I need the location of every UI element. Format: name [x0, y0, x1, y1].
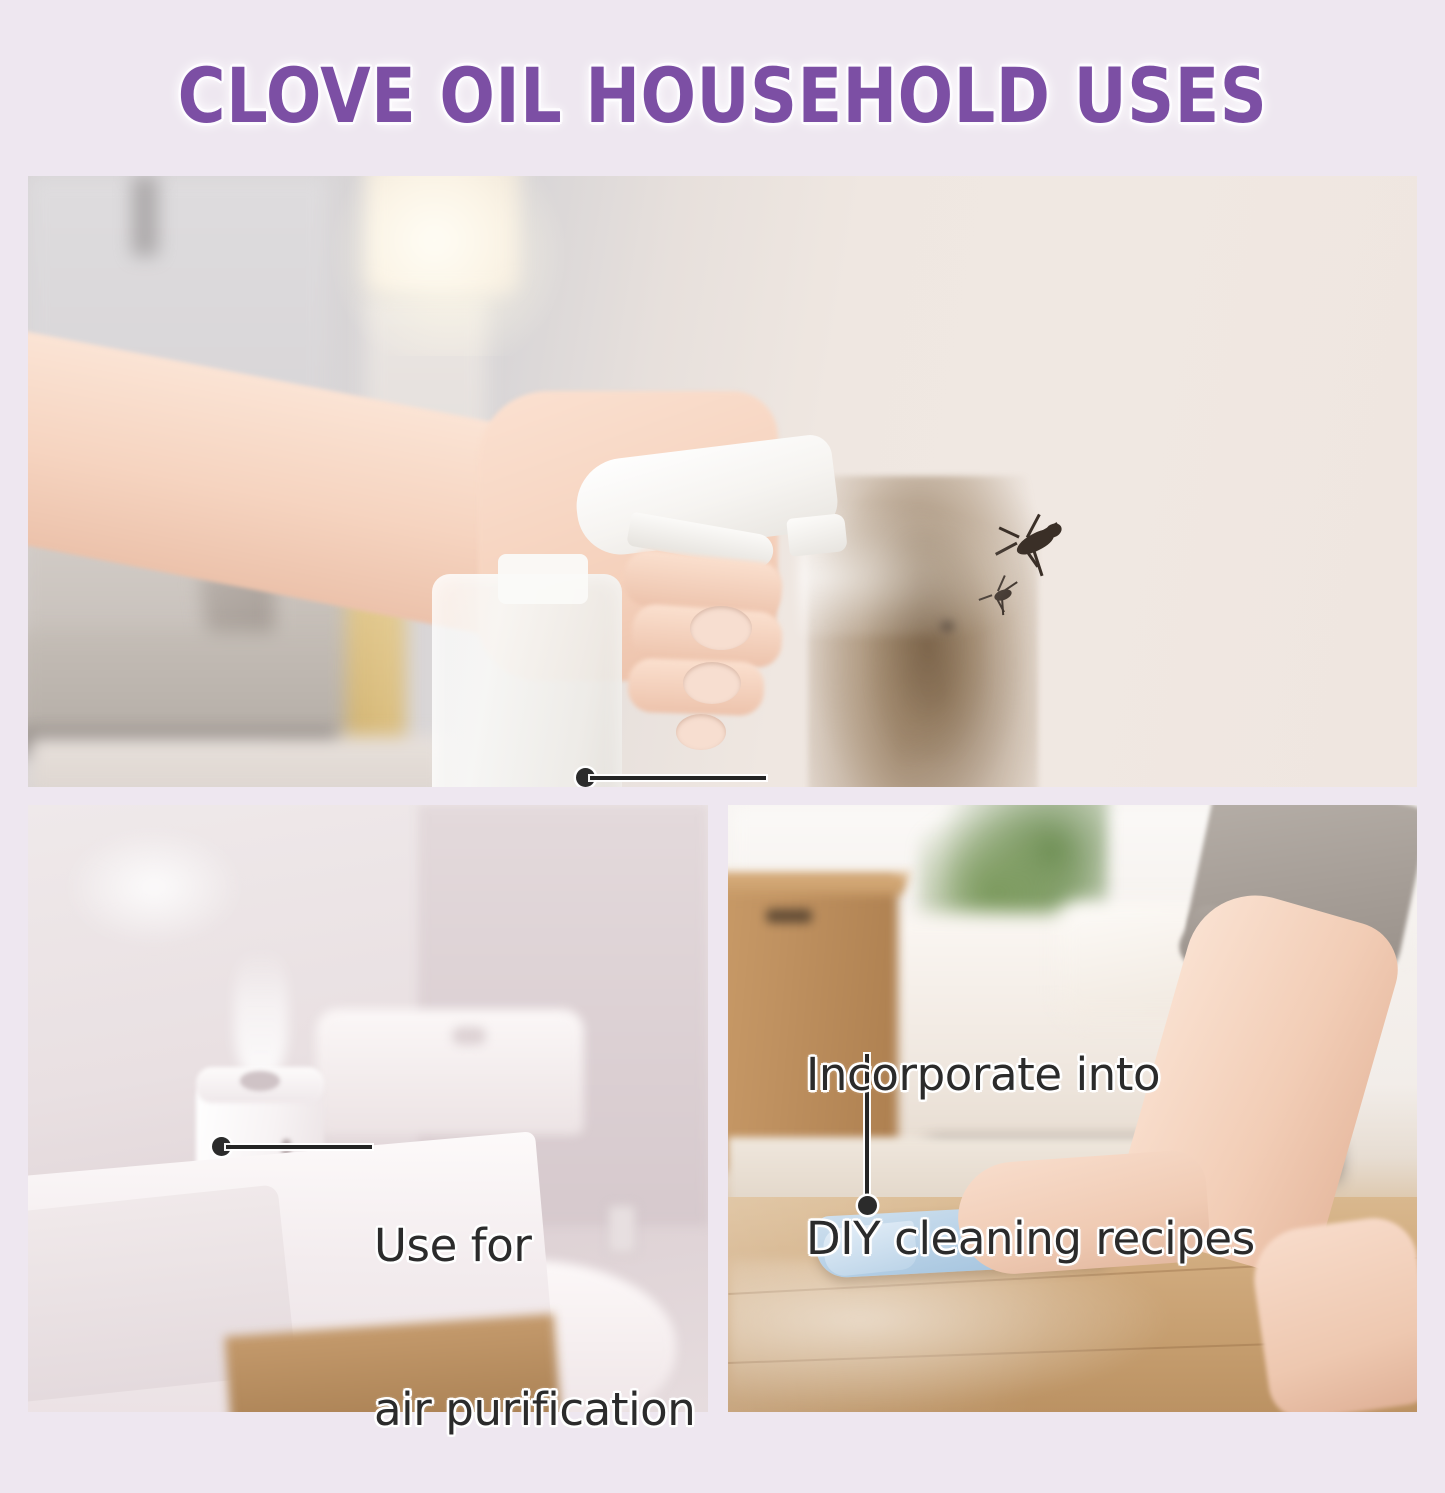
spray-bottle-neck — [498, 554, 588, 604]
air-callout-text: Use for air purification — [374, 1109, 695, 1493]
fingernail-2 — [683, 662, 741, 704]
diy-callout-line1: Incorporate into — [806, 1048, 1255, 1103]
leader-line — [590, 776, 766, 780]
mist-cloud — [64, 827, 244, 947]
leader-line — [226, 1145, 372, 1149]
floor — [28, 736, 448, 787]
background-door-shadow — [132, 176, 158, 256]
cabinet-top-surface — [728, 873, 909, 895]
mist-column — [234, 947, 288, 1079]
spray-callout-leader — [576, 768, 766, 787]
fingernail-1 — [690, 606, 752, 650]
spray-bottle-photo — [28, 176, 1417, 787]
cabinet-handle — [766, 909, 812, 923]
page-title: CLOVE OIL HOUSEHOLD USES — [178, 58, 1268, 134]
fingernail-3 — [676, 714, 726, 750]
spray-bottle-body — [432, 574, 622, 787]
supporting-hand — [1248, 1212, 1417, 1412]
spray-bottle-panel: Add to spray bottles for aromatic freshe… — [28, 176, 1417, 787]
sofa-seat — [28, 631, 350, 741]
lamp-shade — [366, 176, 518, 294]
air-callout-leader — [212, 1137, 372, 1159]
humidifier-mist-outlet — [240, 1071, 280, 1091]
air-callout-line2: air purification — [374, 1383, 695, 1438]
toilet-flush-button — [452, 1027, 486, 1045]
diy-callout-line2: DIY cleaning recipes — [806, 1212, 1255, 1267]
air-callout-line1: Use for — [374, 1219, 695, 1274]
spray-bottle-nozzle — [786, 513, 848, 557]
diy-callout-text: Incorporate into DIY cleaning recipes — [806, 938, 1255, 1322]
wood-furniture-accent — [346, 596, 406, 756]
page-header: CLOVE OIL HOUSEHOLD USES — [0, 46, 1445, 146]
spray-callout-text: Add to spray bottles for aromatic freshe… — [766, 729, 1285, 787]
